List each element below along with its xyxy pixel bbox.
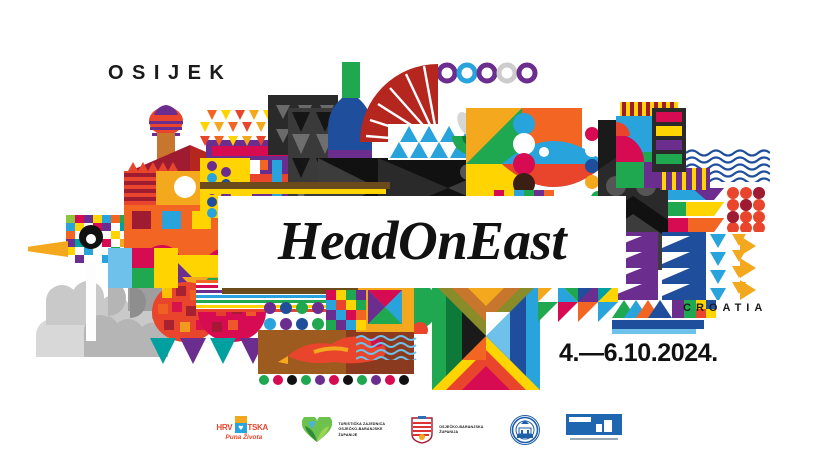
- green-heart-leaf-icon: [302, 417, 332, 443]
- country-label: CROATIA: [683, 302, 767, 314]
- sponsor-logo-row: HRV TSKA Puna Života Turistička zajednic…: [0, 404, 838, 456]
- page-title: HeadOnEast: [278, 213, 566, 268]
- bunting-large-right: [612, 232, 752, 304]
- sponsor-label: Turistička zajednica Osječko-baranjske ž…: [338, 422, 385, 438]
- sponsor-osjecko-baranjska-zupanija[interactable]: Osječko-baranjska županija: [411, 410, 483, 450]
- stripes-right-fish: [652, 108, 686, 172]
- event-date: 4.—6.10.2024.: [559, 339, 718, 368]
- color-grid-block: [326, 290, 366, 330]
- triangle-mosaic-right: [538, 282, 626, 322]
- kaleidoscope-diamond: [432, 282, 540, 390]
- city-seal-icon: [510, 415, 540, 445]
- river-waves-lower: [356, 334, 428, 360]
- sponsor-grad-osijek[interactable]: [510, 410, 540, 450]
- county-coat-of-arms-icon: [411, 416, 433, 444]
- circle-row-top: [438, 62, 538, 84]
- sponsor-privredna-banka[interactable]: [566, 410, 622, 450]
- croatia-full-of-life-logo: HRV TSKA Puna Života: [216, 415, 276, 445]
- sponsor-turisticka-zajednica[interactable]: Turistička zajednica Osječko-baranjske ž…: [302, 410, 385, 450]
- city-label: OSIJEK: [108, 62, 232, 85]
- title-plaque: HeadOnEast: [218, 196, 626, 288]
- zigzag-orange-right: [738, 236, 760, 308]
- sponsor-label: Osječko-baranjska županija: [439, 425, 483, 436]
- red-dot-grid: [726, 186, 766, 232]
- bank-logo: [566, 414, 622, 447]
- brown-frame-bar: [200, 182, 390, 189]
- square-panels-left: [108, 248, 178, 288]
- poster-canvas: HeadOnEast OSIJEK CROATIA 4.—6.10.2024. …: [0, 0, 838, 471]
- sponsor-hrvatska-puna-zivota[interactable]: HRV TSKA Puna Života: [216, 410, 276, 450]
